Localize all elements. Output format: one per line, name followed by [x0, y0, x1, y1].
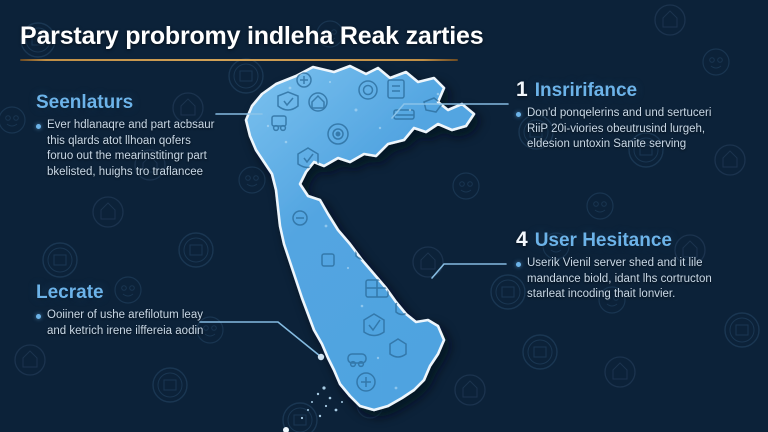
callout-user-hesitance[interactable]: 4 User Hesitance Userik Vienil server sh…: [516, 228, 734, 303]
bullet-dot-icon: [36, 124, 41, 129]
bullet-dot-icon: [516, 262, 521, 267]
callout-user-hesitance-number: 4: [516, 228, 528, 252]
callout-user-hesitance-head: 4 User Hesitance: [516, 228, 734, 252]
callout-user-hesitance-body: Userik Vienil server shed and it lile ma…: [527, 256, 734, 303]
connector-locate: [200, 322, 320, 356]
callout-sources-head: Seenlaturs: [36, 92, 216, 114]
connector-insurance: [392, 104, 508, 118]
callout-locate-body: Ooiiner of ushe arefilotum leay and ketr…: [47, 308, 216, 339]
callout-connectors: [0, 0, 768, 432]
connector-user-hesitance: [432, 264, 506, 278]
callout-insurance-head: 1 Insririfance: [516, 78, 731, 102]
callout-sources-body: Ever hdlanaqre and part acbsaur this qla…: [47, 118, 216, 180]
callout-locate-title: Lecrate: [36, 282, 104, 304]
callout-insurance-number: 1: [516, 78, 528, 102]
callout-locate-head: Lecrate: [36, 282, 216, 304]
callout-user-hesitance-bullet: Userik Vienil server shed and it lile ma…: [516, 256, 734, 303]
infographic-canvas: Parstary probromy indleha Reak zarties: [0, 0, 768, 432]
callout-insurance-bullet: Don'd ponqelerins and und sertuceri RiiP…: [516, 106, 731, 153]
bullet-dot-icon: [516, 112, 521, 117]
callout-sources-title: Seenlaturs: [36, 92, 133, 114]
callout-sources-bullet: Ever hdlanaqre and part acbsaur this qla…: [36, 118, 216, 180]
callout-locate[interactable]: Lecrate Ooiiner of ushe arefilotum leay …: [36, 282, 216, 339]
callout-insurance-title: Insririfance: [535, 80, 637, 102]
callout-insurance-body: Don'd ponqelerins and und sertuceri RiiP…: [527, 106, 731, 153]
callout-user-hesitance-title: User Hesitance: [535, 230, 672, 252]
bullet-dot-icon: [36, 314, 41, 319]
callout-sources[interactable]: Seenlaturs Ever hdlanaqre and part acbsa…: [36, 92, 216, 180]
callout-locate-bullet: Ooiiner of ushe arefilotum leay and ketr…: [36, 308, 216, 339]
callout-insurance[interactable]: 1 Insririfance Don'd ponqelerins and und…: [516, 78, 731, 153]
